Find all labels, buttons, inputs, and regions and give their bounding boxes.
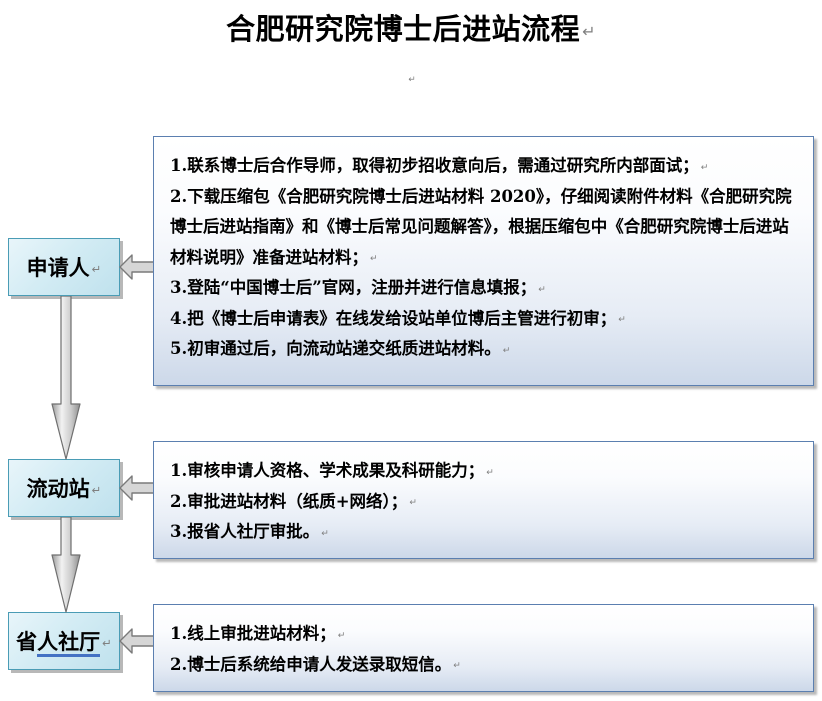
detail-line: 3.登陆“中国博士后”官网，注册并进行信息填报；↵ bbox=[170, 273, 797, 304]
role-label-bureau-underlined: 人社厅 bbox=[37, 629, 100, 657]
role-box-bureau[interactable]: 省人社厅↵ bbox=[8, 612, 120, 670]
paragraph-mark-icon: ↵ bbox=[486, 468, 494, 478]
detail-line: 1.联系博士后合作导师，取得初步招收意向后，需通过研究所内部面试；↵ bbox=[170, 151, 797, 182]
paragraph-mark-icon: ↵ bbox=[408, 75, 415, 85]
paragraph-mark-icon: ↵ bbox=[503, 346, 511, 356]
arrow-down-icon bbox=[49, 517, 83, 613]
paragraph-mark-icon: ↵ bbox=[92, 262, 102, 276]
empty-paragraph-mark: ↵ bbox=[0, 68, 822, 87]
paragraph-mark-icon: ↵ bbox=[370, 254, 378, 264]
arrow-down-icon bbox=[49, 296, 83, 460]
paragraph-mark-icon: ↵ bbox=[538, 285, 546, 295]
detail-box-applicant[interactable]: 1.联系博士后合作导师，取得初步招收意向后，需通过研究所内部面试；↵ 2.下载压… bbox=[153, 136, 814, 386]
detail-line: 2.审批进站材料（纸质+网络）；↵ bbox=[170, 487, 797, 518]
role-label-bureau-prefix: 省 bbox=[16, 629, 37, 654]
paragraph-mark-icon: ↵ bbox=[582, 22, 596, 41]
paragraph-mark-icon: ↵ bbox=[701, 163, 709, 173]
arrow-left-icon bbox=[119, 252, 155, 282]
paragraph-mark-icon: ↵ bbox=[92, 483, 102, 497]
paragraph-mark-icon: ↵ bbox=[453, 661, 461, 671]
detail-line: 4.把《博士后申请表》在线发给设站单位博后主管进行初审；↵ bbox=[170, 304, 797, 335]
detail-line: 2.下载压缩包《合肥研究院博士后进站材料 2020》，仔细阅读附件材料《合肥研究… bbox=[170, 182, 797, 274]
page-title: 合肥研究院博士后进站流程↵ bbox=[0, 6, 822, 48]
arrow-left-icon bbox=[119, 626, 155, 656]
role-label-applicant: 申请人↵ bbox=[27, 252, 102, 282]
detail-line: 5.初审通过后，向流动站递交纸质进站材料。↵ bbox=[170, 334, 797, 365]
paragraph-mark-icon: ↵ bbox=[618, 315, 626, 325]
detail-line: 1.线上审批进站材料；↵ bbox=[170, 619, 797, 650]
role-box-applicant[interactable]: 申请人↵ bbox=[8, 238, 120, 296]
detail-line: 3.报省人社厅审批。↵ bbox=[170, 517, 797, 548]
detail-line: 2.博士后系统给申请人发送录取短信。↵ bbox=[170, 650, 797, 681]
detail-box-bureau[interactable]: 1.线上审批进站材料；↵ 2.博士后系统给申请人发送录取短信。↵ bbox=[153, 604, 814, 692]
arrow-left-icon bbox=[119, 473, 155, 503]
detail-line: 1.审核申请人资格、学术成果及科研能力；↵ bbox=[170, 456, 797, 487]
paragraph-mark-icon: ↵ bbox=[102, 636, 112, 650]
paragraph-mark-icon: ↵ bbox=[338, 631, 346, 641]
detail-box-station[interactable]: 1.审核申请人资格、学术成果及科研能力；↵ 2.审批进站材料（纸质+网络）；↵ … bbox=[153, 441, 814, 559]
paragraph-mark-icon: ↵ bbox=[409, 498, 417, 508]
role-label-station: 流动站↵ bbox=[27, 473, 102, 503]
role-box-station[interactable]: 流动站↵ bbox=[8, 459, 120, 517]
paragraph-mark-icon: ↵ bbox=[321, 529, 329, 539]
page-title-text: 合肥研究院博士后进站流程 bbox=[226, 12, 580, 46]
role-label-bureau: 省人社厅↵ bbox=[16, 626, 112, 656]
